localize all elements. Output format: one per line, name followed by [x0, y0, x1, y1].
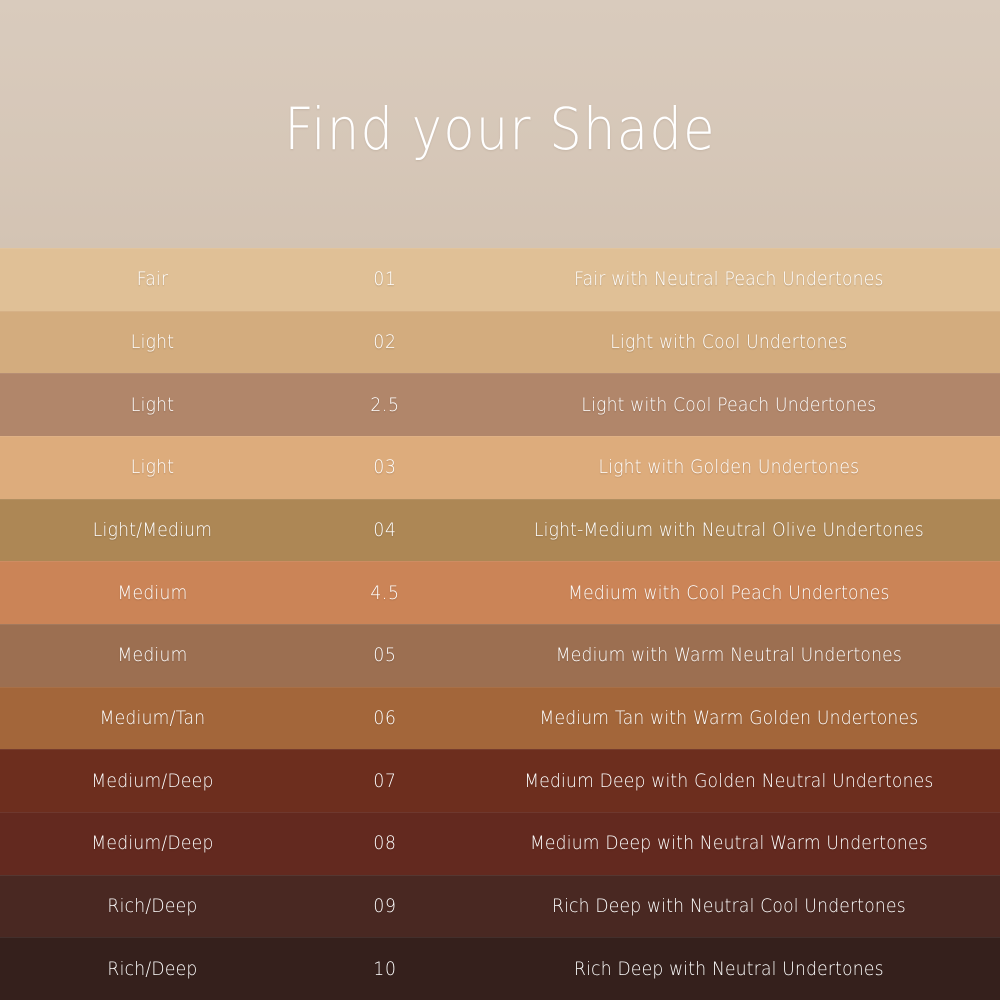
shade-description: Light-Medium with Neutral Olive Underton…: [492, 519, 974, 541]
shade-description: Medium Deep with Neutral Warm Undertones: [492, 832, 974, 854]
shade-number: 10: [313, 958, 457, 980]
shade-category: Rich/Deep: [15, 958, 290, 980]
shade-number: 04: [313, 519, 457, 541]
shade-category: Rich/Deep: [15, 895, 290, 917]
shade-number: 01: [313, 268, 457, 290]
shade-number: 02: [313, 331, 457, 353]
page-title: Find your Shade: [284, 100, 715, 158]
shade-category: Light: [15, 394, 290, 416]
shade-number: 4.5: [313, 582, 457, 604]
header-banner: Find your Shade: [0, 0, 1000, 248]
shade-category: Medium: [15, 644, 290, 666]
shade-category: Light: [15, 456, 290, 478]
shade-number: 05: [313, 644, 457, 666]
shade-row[interactable]: Medium05Medium with Warm Neutral Underto…: [0, 624, 1000, 687]
shade-description: Light with Golden Undertones: [492, 456, 974, 478]
shade-category: Light/Medium: [15, 519, 290, 541]
shade-number: 03: [313, 456, 457, 478]
shade-row[interactable]: Rich/Deep09Rich Deep with Neutral Cool U…: [0, 875, 1000, 938]
shade-row[interactable]: Medium/Tan06Medium Tan with Warm Golden …: [0, 687, 1000, 750]
shade-category: Medium: [15, 582, 290, 604]
shade-description: Rich Deep with Neutral Cool Undertones: [492, 895, 974, 917]
shade-number: 09: [313, 895, 457, 917]
shade-row[interactable]: Medium/Deep08Medium Deep with Neutral Wa…: [0, 812, 1000, 875]
shade-row[interactable]: Rich/Deep10Rich Deep with Neutral Undert…: [0, 937, 1000, 1000]
shade-description: Medium Deep with Golden Neutral Underton…: [492, 770, 974, 792]
shade-description: Medium with Warm Neutral Undertones: [492, 644, 974, 666]
shade-category: Medium/Tan: [15, 707, 290, 729]
shade-row[interactable]: Light03Light with Golden Undertones: [0, 436, 1000, 499]
shade-number: 07: [313, 770, 457, 792]
shade-description: Medium with Cool Peach Undertones: [492, 582, 974, 604]
shade-category: Medium/Deep: [15, 832, 290, 854]
shade-description: Fair with Neutral Peach Undertones: [492, 268, 974, 290]
shade-number: 2.5: [313, 394, 457, 416]
shade-category: Light: [15, 331, 290, 353]
shade-row[interactable]: Medium4.5Medium with Cool Peach Underton…: [0, 561, 1000, 624]
shade-row[interactable]: Medium/Deep07Medium Deep with Golden Neu…: [0, 749, 1000, 812]
shade-row[interactable]: Light02Light with Cool Undertones: [0, 311, 1000, 374]
shade-description: Medium Tan with Warm Golden Undertones: [492, 707, 974, 729]
shade-row[interactable]: Fair01Fair with Neutral Peach Undertones: [0, 248, 1000, 311]
shade-description: Rich Deep with Neutral Undertones: [492, 958, 974, 980]
shade-number: 08: [313, 832, 457, 854]
shade-row[interactable]: Light2.5Light with Cool Peach Undertones: [0, 373, 1000, 436]
shade-category: Medium/Deep: [15, 770, 290, 792]
shade-finder-page: Find your Shade Fair01Fair with Neutral …: [0, 0, 1000, 1000]
shade-number: 06: [313, 707, 457, 729]
shade-category: Fair: [15, 268, 290, 290]
shade-description: Light with Cool Undertones: [492, 331, 974, 353]
shade-row[interactable]: Light/Medium04Light-Medium with Neutral …: [0, 499, 1000, 562]
shade-table: Fair01Fair with Neutral Peach Undertones…: [0, 248, 1000, 1000]
shade-description: Light with Cool Peach Undertones: [492, 394, 974, 416]
